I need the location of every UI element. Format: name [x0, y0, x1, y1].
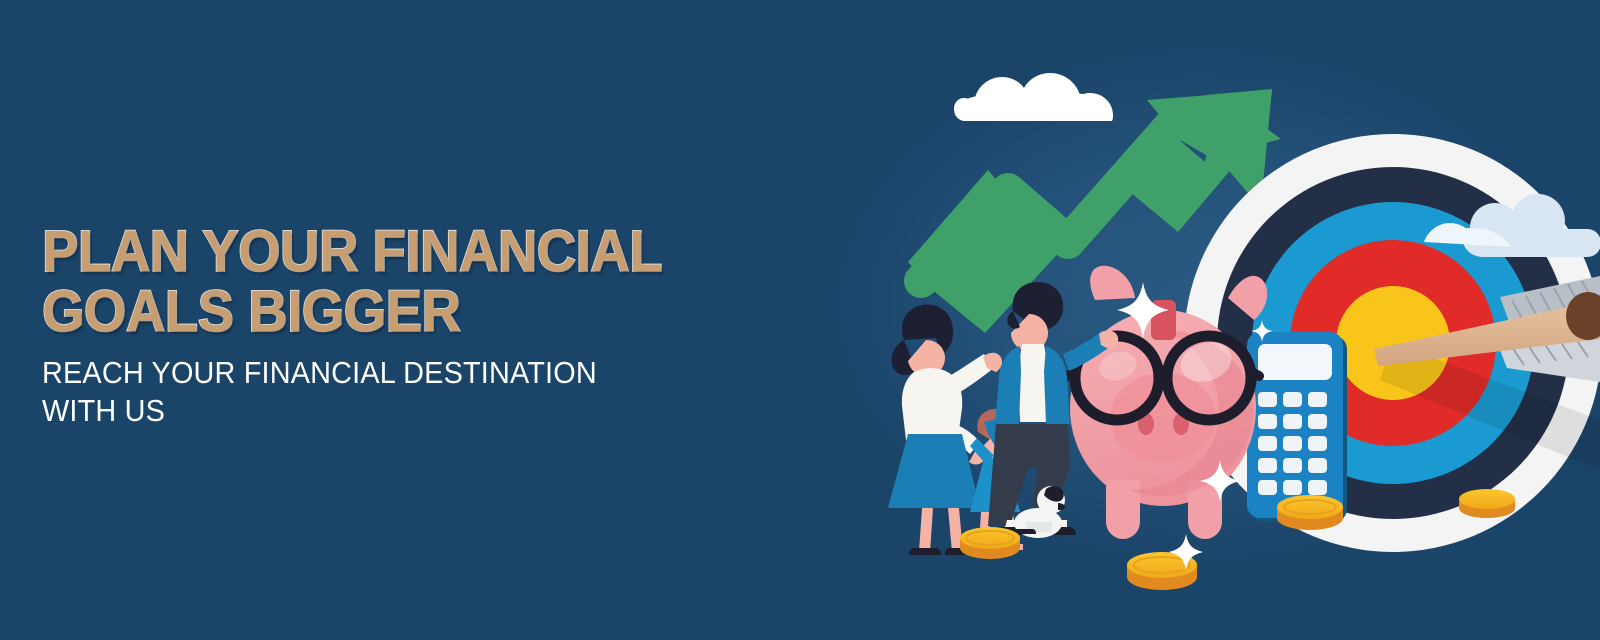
gold-coin-icon	[960, 527, 1020, 559]
gold-coin-icon	[1459, 489, 1515, 518]
cloud-icon	[954, 73, 1113, 121]
gold-coin-icon	[1277, 495, 1343, 530]
copy-block: PLAN YOUR FINANCIAL GOALS BIGGER REACH Y…	[42, 222, 802, 430]
subheadline-line-2: WITH US	[42, 392, 749, 430]
headline-line-1: PLAN YOUR FINANCIAL	[42, 222, 756, 282]
financial-banner: PLAN YOUR FINANCIAL GOALS BIGGER REACH Y…	[0, 0, 1600, 640]
subheadline-line-1: REACH YOUR FINANCIAL DESTINATION	[42, 354, 749, 392]
calculator-icon	[1247, 332, 1347, 522]
dog-icon	[1014, 486, 1065, 538]
headline-line-2: GOALS BIGGER	[42, 282, 756, 342]
